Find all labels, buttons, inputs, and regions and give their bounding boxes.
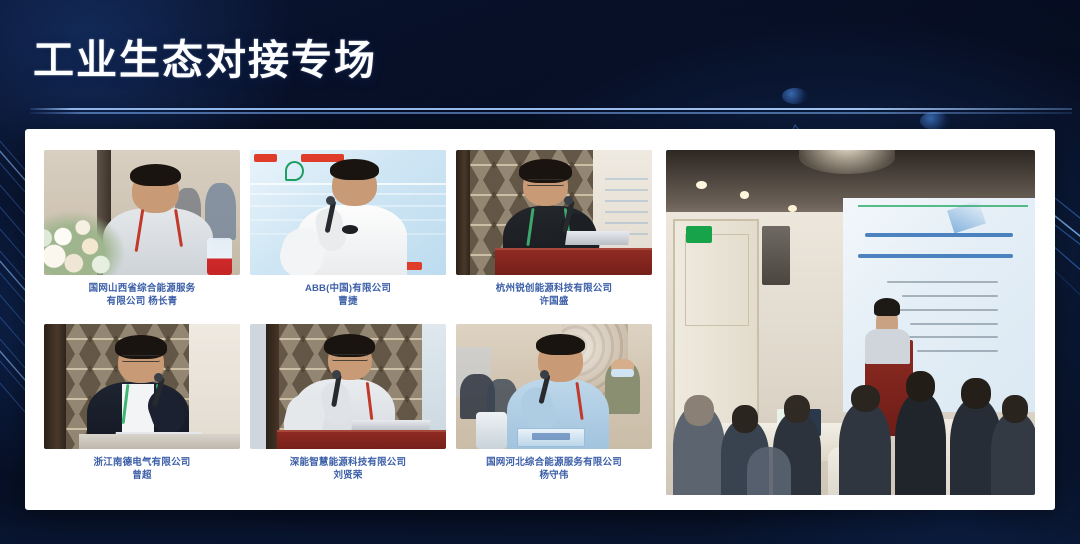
page-title: 工业生态对接专场 (33, 36, 377, 84)
speaker-caption-2-line1: ABB(中国)有限公司 (305, 283, 391, 294)
speaker-caption-1-line1: 国网山西省综合能源服务 (89, 283, 196, 294)
speaker-caption-2: ABB(中国)有限公司 曹捷 (250, 282, 446, 308)
speaker-caption-3-line1: 杭州锐创能源科技有限公司 (496, 283, 612, 294)
speaker-row-top: 国网山西省综合能源服务 有限公司 杨长青 (44, 150, 652, 308)
content-card: 国网山西省综合能源服务 有限公司 杨长青 (25, 129, 1055, 510)
speaker-caption-6: 国网河北综合能源服务有限公司 杨守伟 (456, 456, 652, 482)
speaker-caption-5: 深能智慧能源科技有限公司 刘贤荣 (250, 456, 446, 482)
speaker-caption-1: 国网山西省综合能源服务 有限公司 杨长青 (44, 282, 240, 308)
screen-title-line-2 (858, 254, 1013, 258)
speaker-grid: 国网山西省综合能源服务 有限公司 杨长青 (44, 150, 652, 496)
speaker-card-1[interactable]: 国网山西省综合能源服务 有限公司 杨长青 (44, 150, 240, 308)
speaker-card-5[interactable]: 深能智慧能源科技有限公司 刘贤荣 (250, 324, 446, 482)
speaker-photo-2[interactable] (250, 150, 446, 275)
speaker-photo-4[interactable] (44, 324, 240, 449)
speaker-caption-2-line2: 曹捷 (250, 295, 446, 308)
speaker-caption-5-line2: 刘贤荣 (250, 469, 446, 482)
speaker-photo-1[interactable] (44, 150, 240, 275)
speaker-caption-3-line2: 许国盛 (456, 295, 652, 308)
venue-photo[interactable] (666, 150, 1035, 495)
speaker-caption-4-line2: 曾超 (44, 469, 240, 482)
speaker-row-bottom: 浙江南德电气有限公司 曾超 (44, 324, 652, 482)
accent-dot-2 (782, 88, 808, 104)
title-divider (30, 108, 1072, 114)
speaker-caption-3: 杭州锐创能源科技有限公司 许国盛 (456, 282, 652, 308)
divider-line-secondary (30, 112, 1072, 114)
speaker-card-3[interactable]: 杭州锐创能源科技有限公司 许国盛 (456, 150, 652, 308)
speaker-caption-5-line1: 深能智慧能源科技有限公司 (290, 457, 406, 468)
speaker-photo-5[interactable] (250, 324, 446, 449)
speaker-card-6[interactable]: 国网河北综合能源服务有限公司 杨守伟 (456, 324, 652, 482)
presentation-slide: 工业生态对接专场 (0, 0, 1080, 544)
speaker-card-2[interactable]: ABB(中国)有限公司 曹捷 (250, 150, 446, 308)
speaker-caption-6-line2: 杨守伟 (456, 469, 652, 482)
speaker-caption-4-line1: 浙江南德电气有限公司 (93, 457, 190, 468)
speaker-photo-6[interactable] (456, 324, 652, 449)
screen-title-line-1 (865, 233, 1013, 237)
speaker-caption-6-line1: 国网河北综合能源服务有限公司 (486, 457, 622, 468)
speaker-photo-3[interactable] (456, 150, 652, 275)
speaker-card-4[interactable]: 浙江南德电气有限公司 曾超 (44, 324, 240, 482)
page-title-text: 工业生态对接专场 (33, 36, 377, 84)
speaker-caption-4: 浙江南德电气有限公司 曾超 (44, 456, 240, 482)
divider-line-primary (30, 108, 1072, 110)
accent-dot-3 (920, 112, 950, 130)
speaker-caption-1-line2: 有限公司 杨长青 (44, 295, 240, 308)
